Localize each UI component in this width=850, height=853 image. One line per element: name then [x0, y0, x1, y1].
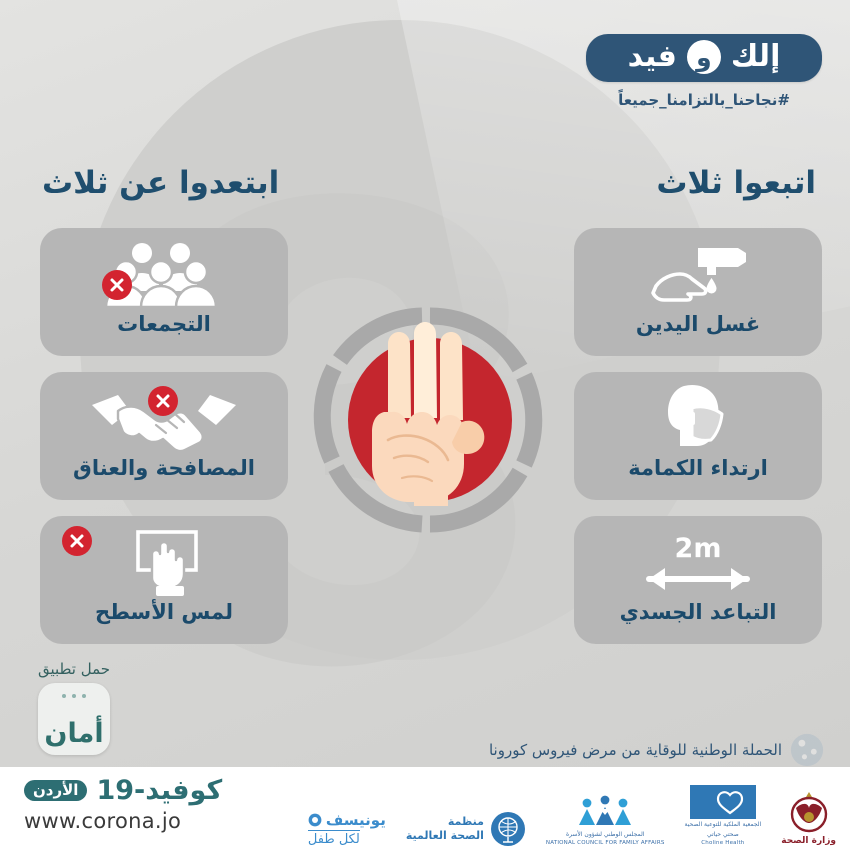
family-council-label-en: NATIONAL COUNCIL FOR FAMILY AFFAIRS	[546, 840, 665, 847]
brand-word-right: إلك	[731, 41, 780, 73]
avoid-cards-column: التجمعات المصافحة والعناق	[40, 228, 288, 644]
brand-pill: إلك و فيد	[586, 34, 822, 82]
covid-country-pill: الأردن	[24, 780, 87, 802]
card-face-mask[interactable]: ارتداء الكمامة	[574, 372, 822, 500]
brand-hashtag: #نجاحنا_بالتزامنا_جميعاً	[586, 91, 822, 109]
footer-bar: كوفيد-19 الأردن www.corona.jo يونيسف لكل…	[0, 767, 850, 853]
covid-title: كوفيد-19	[96, 777, 222, 804]
app-dots-decoration	[38, 694, 110, 698]
app-download-promo[interactable]: حمل تطبيق أمان	[22, 660, 126, 755]
moh-label-ar: وزارة الصحة	[781, 836, 836, 847]
jordan-crest-icon	[786, 790, 832, 834]
brand-circle-letter: و	[687, 40, 721, 74]
unicef-tagline: لكل طفل	[308, 830, 360, 847]
infographic-poster: إلك و فيد #نجاحنا_بالتزامنا_جميعاً اتبعو…	[0, 0, 850, 853]
website-url[interactable]: www.corona.jo	[24, 809, 222, 833]
who-emblem-icon	[490, 811, 526, 847]
app-caption: حمل تطبيق	[22, 660, 126, 678]
app-name: أمان	[38, 720, 110, 747]
card-label: غسل اليدين	[636, 312, 760, 336]
app-icon-tile[interactable]: أمان	[38, 683, 110, 755]
three-fingers-hand-emblem	[310, 300, 550, 540]
unicef-label: يونيسف	[326, 811, 386, 829]
family-icon	[572, 795, 638, 829]
heading-avoid-three: ابتعدوا عن ثلاث	[42, 165, 279, 201]
heart-square-icon	[690, 785, 756, 819]
campaign-strip: الحملة الوطنية للوقاية من مرض فيروس كورو…	[489, 733, 824, 767]
card-handshake-hug[interactable]: المصافحة والعناق	[40, 372, 288, 500]
partner-logos: يونيسف لكل طفل منظمة الصحة العالمية	[308, 785, 836, 847]
ministry-of-health-logo: وزارة الصحة	[781, 790, 836, 847]
national-council-family-affairs-logo: المجلس الوطني لشؤون الأسرة NATIONAL COUN…	[546, 795, 665, 847]
prohibition-badge	[62, 526, 92, 556]
royal-health-awareness-society-logo: الجمعية الملكية للتوعية الصحية صحتي حيات…	[685, 785, 762, 847]
who-logo: منظمة الصحة العالمية	[406, 811, 526, 847]
prohibition-badge	[102, 270, 132, 300]
rhas-label-ar: الجمعية الملكية للتوعية الصحية	[685, 821, 762, 829]
card-label: ارتداء الكمامة	[628, 456, 768, 480]
brand-logo: إلك و فيد #نجاحنا_بالتزامنا_جميعاً	[586, 34, 822, 109]
card-physical-distancing[interactable]: 2m التباعد الجسدي	[574, 516, 822, 644]
face-mask-icon	[574, 382, 822, 454]
follow-cards-column: غسل اليدين ارتداء الكمامة 2m	[574, 228, 822, 644]
card-touch-surfaces[interactable]: لمس الأسطح	[40, 516, 288, 644]
card-hand-washing[interactable]: غسل اليدين	[574, 228, 822, 356]
campaign-text: الحملة الوطنية للوقاية من مرض فيروس كورو…	[489, 741, 782, 759]
handshake-icon	[40, 382, 288, 454]
unicef-logo: يونيسف لكل طفل	[308, 811, 386, 847]
card-label: التباعد الجسدي	[620, 600, 777, 624]
unicef-emblem-icon	[308, 813, 322, 827]
covid-brand: كوفيد-19 الأردن www.corona.jo	[24, 777, 222, 833]
who-label: منظمة الصحة العالمية	[406, 815, 484, 843]
rhas-tagline-ar: صحتي حياتي	[707, 831, 739, 839]
card-label: المصافحة والعناق	[73, 456, 255, 480]
globe-icon	[790, 733, 824, 767]
rhas-tagline-en: Choline Health	[701, 840, 744, 847]
hand-washing-icon	[574, 238, 822, 310]
family-council-label-ar: المجلس الوطني لشؤون الأسرة	[566, 831, 645, 839]
heading-follow-three: اتبعوا ثلاث	[656, 165, 816, 201]
prohibition-badge	[148, 386, 178, 416]
card-label: التجمعات	[117, 312, 211, 336]
svg-text:2m: 2m	[675, 533, 722, 564]
card-label: لمس الأسطح	[95, 600, 233, 624]
group-of-people-icon	[40, 238, 288, 310]
card-gatherings[interactable]: التجمعات	[40, 228, 288, 356]
touch-surface-icon	[40, 526, 288, 598]
distance-arrow-icon: 2m	[574, 526, 822, 598]
brand-word-left: فيد	[628, 41, 677, 73]
